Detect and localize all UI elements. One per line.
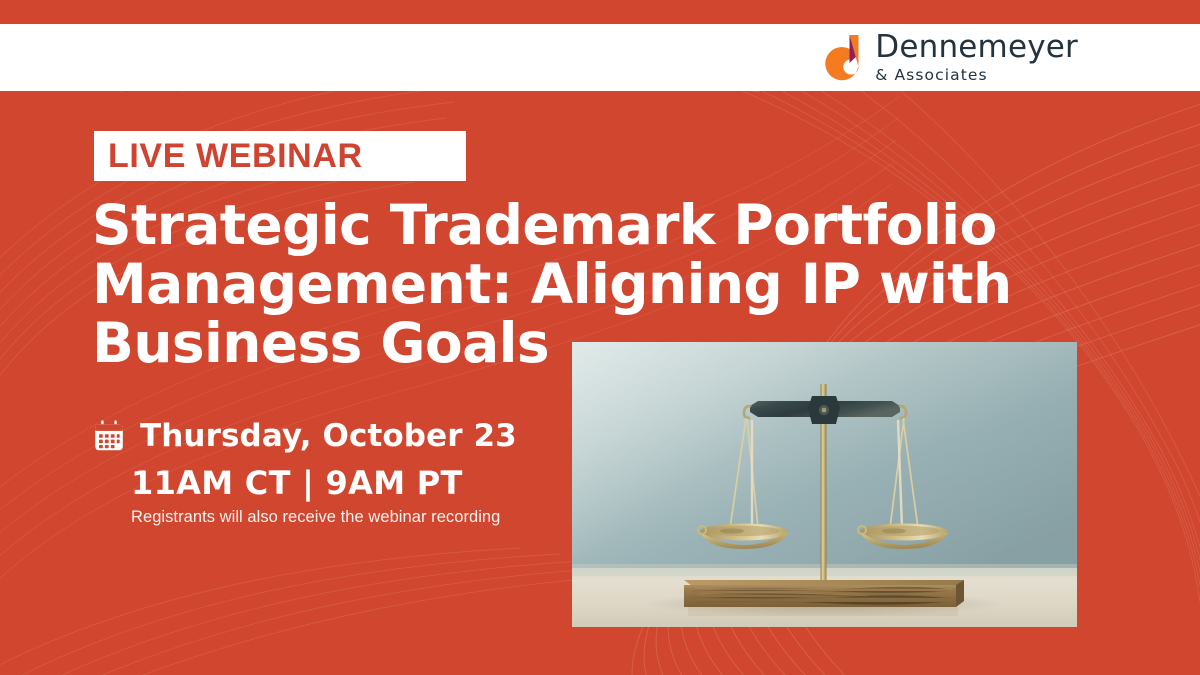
calendar-icon [92, 419, 126, 453]
live-webinar-label: LIVE WEBINAR [108, 137, 363, 176]
webinar-date-row: Thursday, October 23 [92, 419, 517, 453]
webinar-time: 11AM CT | 9AM PT [131, 465, 463, 502]
webinar-date: Thursday, October 23 [140, 421, 517, 452]
headline-line-2: Management: Aligning IP with [92, 255, 992, 314]
recording-note: Registrants will also receive the webina… [131, 508, 500, 527]
balance-scales-photo [572, 342, 1077, 627]
webinar-banner: Dennemeyer & Associates LIVE WEBINAR Str… [0, 0, 1200, 675]
live-webinar-badge: LIVE WEBINAR [94, 131, 466, 181]
headline-line-1: Strategic Trademark Portfolio [92, 196, 992, 255]
